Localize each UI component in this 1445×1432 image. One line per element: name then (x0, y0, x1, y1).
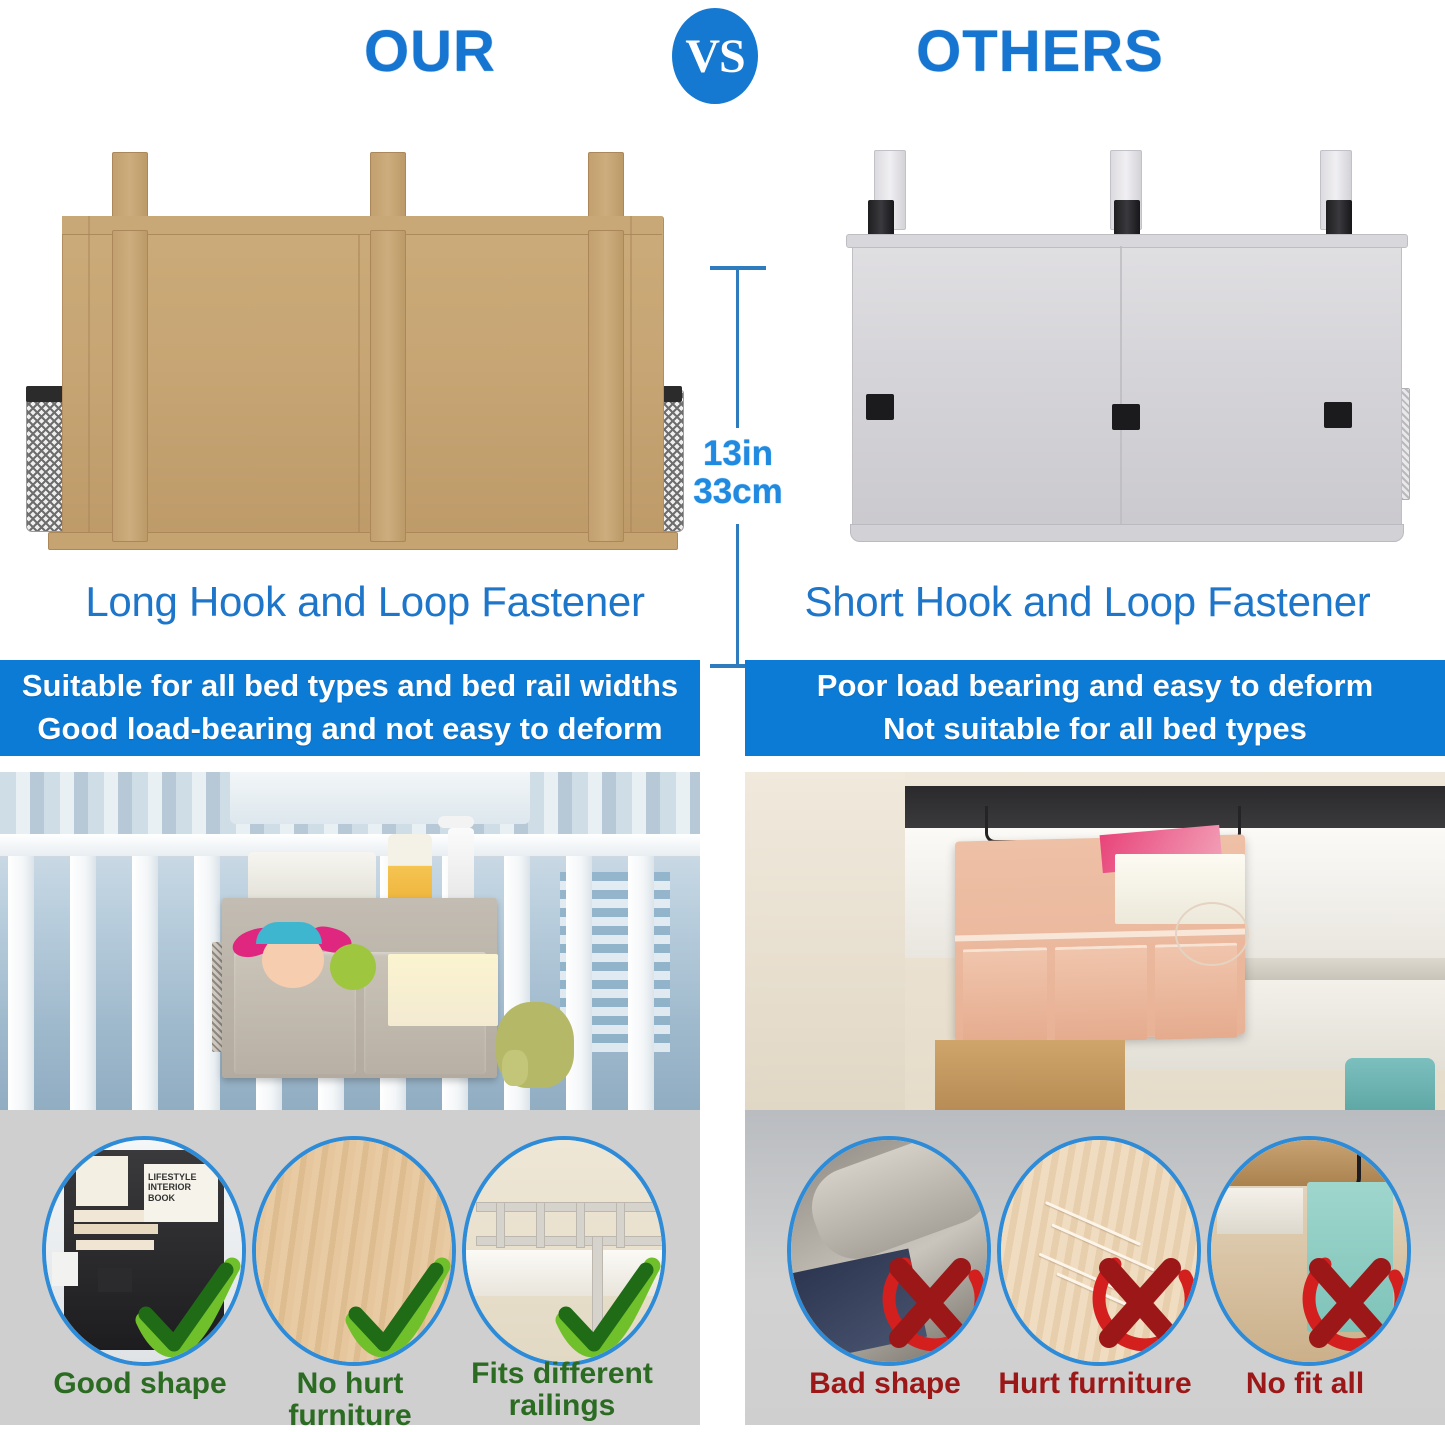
our-strap-1-front (112, 230, 148, 542)
lotion-pump-bottle (448, 828, 474, 904)
our-title: OUR (230, 18, 630, 85)
our-benefit-line-1: Suitable for all bed types and bed rail … (22, 665, 678, 708)
our-product-image (18, 138, 688, 558)
dimension-inches: 13in (688, 436, 788, 471)
railing-vertical (536, 1202, 545, 1248)
product-hero-row: 13in 33cm (0, 118, 1445, 568)
our-strap-2-front (370, 230, 406, 542)
others-title: OTHERS (790, 18, 1290, 85)
crib-slat (132, 856, 158, 1110)
red-x-icon (869, 1248, 989, 1358)
pink-pocket-left (963, 947, 1047, 1044)
crib-slat (566, 856, 592, 1110)
cardboard-box (935, 1040, 1125, 1110)
baby-bottle (388, 834, 432, 904)
book-title-text: LIFESTYLE INTERIOR BOOK (148, 1172, 218, 1203)
papers-in-organizer (74, 1210, 154, 1222)
crib-slat (8, 856, 34, 1110)
others-usage-photo (745, 772, 1445, 1110)
wood-shelf (1211, 1140, 1407, 1186)
others-proof-label-3: No fit all (1195, 1368, 1415, 1400)
red-x-icon (1079, 1248, 1199, 1358)
others-drawback-line-1: Poor load bearing and easy to deform (817, 665, 1373, 708)
our-strap-3-front (588, 230, 624, 542)
others-proof-label-2: Hurt furniture (985, 1368, 1205, 1400)
others-bag-seam (1120, 246, 1122, 526)
others-bag-body (852, 236, 1402, 538)
green-plush-toy (330, 944, 376, 990)
others-fastener-subtitle: Short Hook and Loop Fastener (730, 578, 1445, 626)
our-proof-circle-3 (462, 1136, 666, 1366)
railing-vertical (616, 1202, 625, 1248)
others-proof-circle-3 (1207, 1136, 1411, 1366)
wood-scratch (1045, 1201, 1141, 1246)
crib-slat (70, 856, 96, 1110)
comparison-header: OUR VS OTHERS (0, 0, 1445, 120)
others-bag-top-hem (846, 234, 1408, 248)
others-strap-black-3-tip (1324, 402, 1352, 428)
baby-book (388, 954, 498, 1026)
red-x-icon (1289, 1248, 1409, 1358)
room-side-wall (745, 772, 905, 1110)
teal-chair (1345, 1058, 1435, 1110)
dimension-line-upper (736, 268, 739, 428)
railing-vertical (576, 1202, 585, 1248)
others-proof-band: Bad shape Hurt furniture No fit all (745, 1110, 1445, 1425)
crib-slat (628, 856, 654, 1110)
others-proof-circle-2 (997, 1136, 1201, 1366)
our-proof-label-2: No hurt furniture (240, 1368, 460, 1432)
our-bag-seam-center (358, 234, 360, 534)
our-proof-label-1: Good shape (30, 1368, 250, 1400)
our-proof-circle-2 (252, 1136, 456, 1366)
others-drawbacks-banner: Poor load bearing and easy to deform Not… (745, 660, 1445, 756)
others-proof-label-1: Bad shape (775, 1368, 995, 1400)
others-product-image (820, 138, 1430, 558)
vs-badge-label: VS (672, 8, 758, 104)
plush-elephant (496, 1002, 574, 1088)
railing-vertical (496, 1202, 505, 1248)
our-usage-photo (0, 772, 700, 1110)
organizer-white-item (52, 1252, 78, 1286)
papers-in-organizer (74, 1224, 158, 1234)
green-check-icon (126, 1250, 246, 1360)
others-proof-circle-1 (787, 1136, 991, 1366)
loose-cord (1175, 902, 1249, 966)
papers-in-organizer (76, 1156, 128, 1206)
our-fastener-subtitle: Long Hook and Loop Fastener (0, 578, 730, 626)
green-check-icon (336, 1250, 456, 1360)
crib-blanket (230, 772, 530, 824)
lifestyle-interior-book: LIFESTYLE INTERIOR BOOK (144, 1164, 218, 1222)
our-bag-top-hem (62, 216, 662, 235)
others-bag-bottom (850, 524, 1404, 542)
green-check-icon (546, 1250, 666, 1360)
dimension-centimeters: 33cm (688, 474, 788, 509)
our-proof-label-3: Fits different railings (452, 1358, 672, 1422)
pink-pocket-mid (1055, 945, 1147, 1042)
baby-wipes-pack (248, 852, 376, 904)
others-strap-black-1-tip (866, 394, 894, 420)
others-drawback-line-2: Not suitable for all bed types (883, 708, 1307, 751)
white-box (1217, 1188, 1303, 1234)
papers-in-organizer (76, 1240, 154, 1250)
our-bag-edge-right (630, 216, 632, 536)
our-proof-band: LIFESTYLE INTERIOR BOOK Good shape No hu… (0, 1110, 700, 1425)
plush-toy-hat (256, 922, 322, 944)
our-benefits-banner: Suitable for all bed types and bed rail … (0, 660, 700, 756)
our-proof-circle-1: LIFESTYLE INTERIOR BOOK (42, 1136, 246, 1366)
our-benefit-line-2: Good load-bearing and not easy to deform (37, 708, 662, 751)
our-bag-edge-left (88, 216, 90, 536)
others-strap-black-2-tip (1112, 404, 1140, 430)
vs-badge-icon: VS (672, 8, 758, 104)
our-bag-body (62, 216, 664, 548)
